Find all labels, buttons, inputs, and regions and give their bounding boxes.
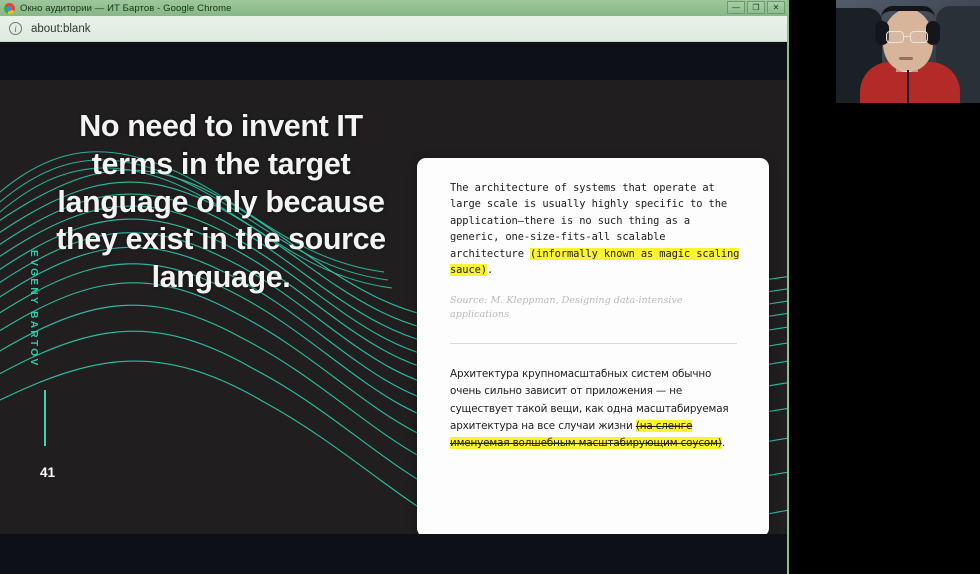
glasses-left-icon xyxy=(886,31,904,43)
presentation-viewport: No need to invent IT terms in the target… xyxy=(0,42,787,574)
quote-russian: Архитектура крупномасштабных систем обыч… xyxy=(450,366,743,451)
info-circle-icon[interactable]: i xyxy=(9,22,22,35)
browser-window: Окно аудитории — ИТ Бартов - Google Chro… xyxy=(0,0,789,574)
headphone-cord xyxy=(907,70,909,103)
maximize-button[interactable]: ❐ xyxy=(747,1,765,14)
headphone-band-icon xyxy=(881,6,935,18)
close-button[interactable]: ✕ xyxy=(767,1,785,14)
headphone-right-icon xyxy=(926,21,940,45)
quote-english: The architecture of systems that operate… xyxy=(450,180,743,279)
quote-card: The architecture of systems that operate… xyxy=(417,158,769,534)
browser-toolbar: i about:blank xyxy=(0,16,787,42)
chrome-logo-icon xyxy=(4,3,15,14)
glasses-bridge-icon xyxy=(904,36,910,37)
window-titlebar[interactable]: Окно аудитории — ИТ Бартов - Google Chro… xyxy=(0,0,787,16)
minimize-button[interactable]: — xyxy=(727,1,745,14)
window-title: Окно аудитории — ИТ Бартов - Google Chro… xyxy=(20,3,232,14)
slide-title: No need to invent IT terms in the target… xyxy=(46,108,396,297)
quote-ru-plain-after: . xyxy=(722,437,725,449)
slide: No need to invent IT terms in the target… xyxy=(0,80,787,534)
author-vertical-label: EVGENY BARTOV xyxy=(28,250,39,368)
card-divider xyxy=(450,343,737,344)
address-bar-input[interactable]: about:blank xyxy=(31,23,90,35)
glasses-right-icon xyxy=(910,31,928,43)
slide-number: 41 xyxy=(40,465,55,480)
presenter-video-feed[interactable] xyxy=(836,0,980,103)
slide-accent-rule xyxy=(44,390,46,446)
quote-source: Source: M. Kleppman, Designing data-inte… xyxy=(450,294,743,323)
window-controls: — ❐ ✕ xyxy=(727,1,785,14)
quote-en-plain-after: . xyxy=(487,264,493,276)
presenter-mouth xyxy=(899,57,913,60)
screen: Окно аудитории — ИТ Бартов - Google Chro… xyxy=(0,0,980,574)
